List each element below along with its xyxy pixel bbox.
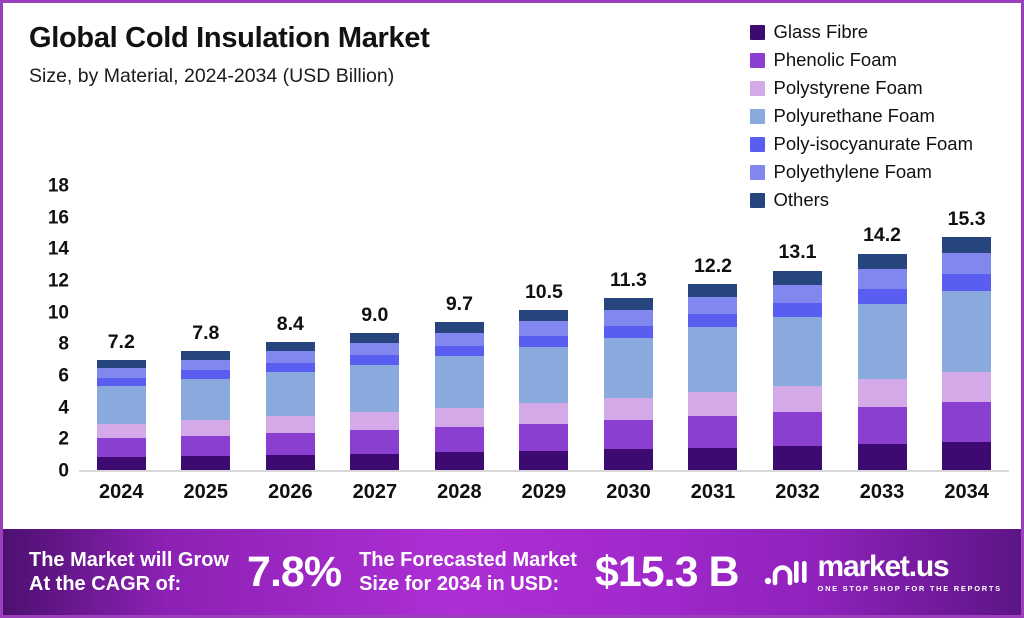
bar-segment bbox=[858, 289, 907, 304]
bar-segment bbox=[266, 342, 315, 351]
y-axis-tick-label: 18 bbox=[48, 177, 69, 196]
bar-segment bbox=[604, 298, 653, 310]
bar-segment bbox=[350, 333, 399, 343]
bar-segment bbox=[435, 427, 484, 452]
y-axis-tick-label: 0 bbox=[58, 462, 69, 481]
bar-segment bbox=[858, 304, 907, 380]
y-axis-tick-label: 4 bbox=[58, 398, 69, 417]
bar-segment bbox=[773, 386, 822, 412]
market-us-logo-icon bbox=[763, 555, 809, 589]
bar-stack bbox=[942, 237, 991, 470]
x-axis-tick-label: 2026 bbox=[248, 481, 332, 504]
bar-segment bbox=[773, 412, 822, 446]
bar-group[interactable]: 7.8 bbox=[164, 193, 248, 470]
bar-segment bbox=[266, 433, 315, 455]
bar-stack bbox=[181, 351, 230, 470]
cagr-value: 7.8% bbox=[247, 551, 341, 594]
y-axis-tick-label: 10 bbox=[48, 303, 69, 322]
bar-segment bbox=[688, 448, 737, 470]
bar-stack bbox=[350, 333, 399, 470]
bar-segment bbox=[773, 271, 822, 285]
bar-segment bbox=[181, 420, 230, 435]
bar-segment bbox=[604, 449, 653, 470]
bar-group[interactable]: 9.0 bbox=[333, 193, 417, 470]
bar-segment bbox=[350, 343, 399, 355]
x-axis-tick-label: 2031 bbox=[671, 481, 755, 504]
bar-segment bbox=[858, 379, 907, 407]
bar-segment bbox=[858, 254, 907, 269]
bar-group[interactable]: 8.4 bbox=[248, 193, 332, 470]
bar-group[interactable]: 14.2 bbox=[840, 193, 924, 470]
x-axis-tick-label: 2024 bbox=[79, 481, 163, 504]
bar-segment bbox=[181, 370, 230, 378]
y-axis-tick-label: 16 bbox=[48, 208, 69, 227]
bar-segment bbox=[773, 317, 822, 387]
y-axis: 024681012141618 bbox=[29, 186, 69, 471]
bar-segment bbox=[519, 347, 568, 403]
bar-group[interactable]: 13.1 bbox=[756, 193, 840, 470]
bar-segment bbox=[942, 237, 991, 253]
bar-total-label: 9.7 bbox=[417, 295, 501, 315]
x-axis-tick-label: 2027 bbox=[333, 481, 417, 504]
bar-segment bbox=[604, 326, 653, 338]
cagr-label-line1: The Market will Grow bbox=[29, 549, 229, 571]
bar-segment bbox=[97, 378, 146, 386]
brand-logo: market.us ONE STOP SHOP FOR THE REPORTS bbox=[763, 552, 1002, 593]
x-axis-tick-label: 2033 bbox=[840, 481, 924, 504]
bar-stack bbox=[773, 271, 822, 470]
bar-segment bbox=[858, 407, 907, 444]
x-axis-tick-label: 2030 bbox=[586, 481, 670, 504]
bar-segment bbox=[350, 412, 399, 430]
bar-segment bbox=[266, 351, 315, 363]
bar-segment bbox=[350, 430, 399, 453]
plot-area: 024681012141618 7.27.88.49.09.710.511.31… bbox=[3, 3, 1024, 523]
bar-total-label: 7.2 bbox=[79, 333, 163, 353]
y-axis-tick-label: 8 bbox=[58, 335, 69, 354]
bar-segment bbox=[942, 291, 991, 373]
bar-segment bbox=[435, 346, 484, 356]
x-axis-tick-label: 2028 bbox=[417, 481, 501, 504]
bar-group[interactable]: 11.3 bbox=[586, 193, 670, 470]
bar-segment bbox=[97, 386, 146, 424]
bar-segment bbox=[604, 310, 653, 326]
forecast-label: The Forecasted Market Size for 2034 in U… bbox=[359, 548, 577, 597]
bar-group[interactable]: 10.5 bbox=[502, 193, 586, 470]
bar-segment bbox=[97, 438, 146, 457]
x-axis-baseline bbox=[79, 470, 1009, 472]
cagr-label: The Market will Grow At the CAGR of: bbox=[29, 548, 229, 597]
bar-stack bbox=[519, 310, 568, 470]
y-axis-tick-label: 12 bbox=[48, 272, 69, 291]
y-axis-tick-label: 2 bbox=[58, 430, 69, 449]
forecast-label-line2: Size for 2034 in USD: bbox=[359, 573, 559, 595]
bar-total-label: 11.3 bbox=[586, 271, 670, 291]
bar-total-label: 15.3 bbox=[925, 210, 1009, 230]
bar-segment bbox=[688, 314, 737, 327]
bar-segment bbox=[773, 285, 822, 303]
bar-segment bbox=[519, 403, 568, 424]
bar-segment bbox=[181, 351, 230, 359]
bar-segment bbox=[519, 451, 568, 470]
brand-name: market.us bbox=[818, 552, 1002, 582]
bar-segment bbox=[519, 424, 568, 451]
bar-group[interactable]: 12.2 bbox=[671, 193, 755, 470]
bar-segment bbox=[688, 284, 737, 297]
forecast-value: $15.3 B bbox=[595, 551, 739, 594]
brand-text: market.us ONE STOP SHOP FOR THE REPORTS bbox=[818, 552, 1002, 593]
bar-total-label: 9.0 bbox=[333, 306, 417, 326]
bar-segment bbox=[435, 322, 484, 332]
brand-tagline: ONE STOP SHOP FOR THE REPORTS bbox=[818, 585, 1002, 593]
bar-total-label: 7.8 bbox=[164, 324, 248, 344]
bar-segment bbox=[519, 336, 568, 347]
bar-segment bbox=[97, 368, 146, 378]
bar-segment bbox=[97, 457, 146, 470]
bar-segment bbox=[97, 424, 146, 438]
bar-segment bbox=[181, 379, 230, 421]
bar-segment bbox=[942, 274, 991, 290]
bar-segment bbox=[942, 402, 991, 442]
bar-group[interactable]: 15.3 bbox=[925, 193, 1009, 470]
bar-segment bbox=[350, 355, 399, 365]
x-axis-tick-label: 2025 bbox=[164, 481, 248, 504]
bar-segment bbox=[266, 372, 315, 417]
infographic-root: Global Cold Insulation Market Size, by M… bbox=[0, 0, 1024, 618]
x-axis: 2024202520262027202820292030203120322033… bbox=[79, 481, 1009, 504]
x-axis-tick-label: 2034 bbox=[925, 481, 1009, 504]
bar-segment bbox=[688, 297, 737, 314]
bar-segment bbox=[519, 321, 568, 335]
bar-group[interactable]: 9.7 bbox=[417, 193, 501, 470]
bar-segment bbox=[519, 310, 568, 321]
bar-total-label: 12.2 bbox=[671, 257, 755, 277]
bar-segment bbox=[858, 269, 907, 288]
bar-series-container: 7.27.88.49.09.710.511.312.213.114.215.3 bbox=[79, 193, 1009, 470]
bar-total-label: 8.4 bbox=[248, 315, 332, 335]
bar-segment bbox=[435, 356, 484, 408]
bar-segment bbox=[266, 455, 315, 470]
bar-segment bbox=[97, 360, 146, 368]
bar-total-label: 10.5 bbox=[502, 283, 586, 303]
bar-stack bbox=[97, 360, 146, 470]
bar-segment bbox=[350, 365, 399, 413]
bar-stack bbox=[858, 254, 907, 470]
bar-segment bbox=[688, 416, 737, 448]
bar-segment bbox=[604, 398, 653, 420]
bar-segment bbox=[604, 338, 653, 398]
x-axis-tick-label: 2029 bbox=[502, 481, 586, 504]
bar-stack bbox=[435, 322, 484, 470]
bar-segment bbox=[435, 333, 484, 346]
bar-segment bbox=[181, 436, 230, 456]
bar-segment bbox=[942, 253, 991, 274]
x-axis-tick-label: 2032 bbox=[756, 481, 840, 504]
bar-segment bbox=[688, 327, 737, 392]
bar-segment bbox=[266, 416, 315, 433]
bar-segment bbox=[858, 444, 907, 470]
bar-segment bbox=[350, 454, 399, 470]
y-axis-tick-label: 6 bbox=[58, 367, 69, 386]
bar-segment bbox=[942, 442, 991, 470]
bar-total-label: 14.2 bbox=[840, 226, 924, 246]
bar-segment bbox=[942, 372, 991, 402]
bar-segment bbox=[435, 452, 484, 470]
forecast-label-line1: The Forecasted Market bbox=[359, 549, 577, 571]
y-axis-tick-label: 14 bbox=[48, 240, 69, 259]
bar-segment bbox=[181, 456, 230, 470]
bar-segment bbox=[773, 303, 822, 317]
bar-stack bbox=[604, 298, 653, 470]
bar-segment bbox=[604, 420, 653, 449]
bar-total-label: 13.1 bbox=[756, 243, 840, 263]
bar-stack bbox=[688, 284, 737, 470]
cagr-label-line2: At the CAGR of: bbox=[29, 573, 181, 595]
bar-stack bbox=[266, 342, 315, 470]
bar-segment bbox=[181, 360, 230, 371]
bar-segment bbox=[266, 363, 315, 372]
bar-segment bbox=[435, 408, 484, 427]
bar-segment bbox=[688, 392, 737, 416]
bar-segment bbox=[773, 446, 822, 470]
bar-group[interactable]: 7.2 bbox=[79, 193, 163, 470]
footer-banner: The Market will Grow At the CAGR of: 7.8… bbox=[3, 529, 1021, 615]
